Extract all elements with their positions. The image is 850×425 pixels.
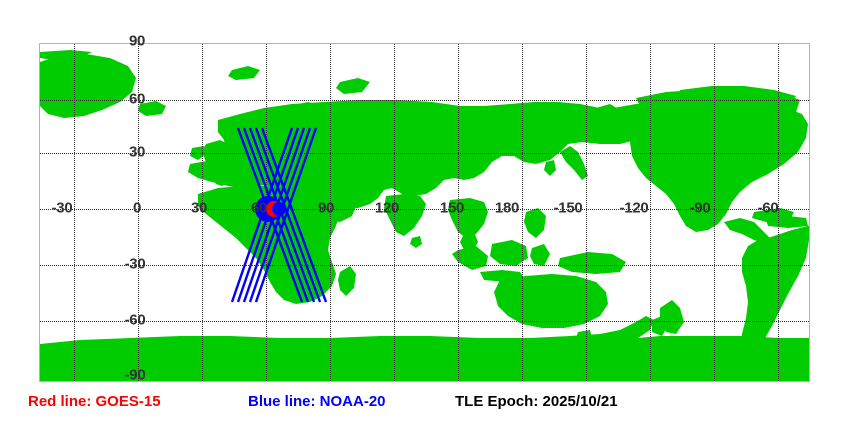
korea	[544, 160, 556, 176]
south-america	[742, 226, 809, 354]
lat-tick-30: 30	[129, 145, 145, 160]
satellite-ground-track-map: 90 60 30 -30 -60 -90 -30 0 30 60 90 120 …	[0, 0, 850, 425]
lon-tick--90: -90	[690, 201, 711, 216]
lat-tick--30: -30	[125, 257, 146, 272]
lon-tick-30: 30	[191, 201, 207, 216]
lon-tick-0: 0	[133, 201, 141, 216]
legend-red-line-goes15: Red line: GOES-15	[28, 392, 161, 412]
australia	[494, 274, 608, 328]
new-guinea	[558, 252, 626, 274]
lon-tick-90: 90	[318, 201, 334, 216]
lat-tick-90: 90	[129, 34, 145, 49]
legend-blue-line-noaa20: Blue line: NOAA-20	[248, 392, 386, 412]
lon-tick-60: 60	[251, 201, 267, 216]
svalbard	[228, 66, 260, 80]
antarctica	[40, 316, 809, 381]
sulawesi	[530, 244, 550, 266]
novaya-zemlya	[336, 78, 370, 94]
sri-lanka	[410, 236, 422, 248]
madagascar	[338, 266, 356, 296]
lon-tick-180: 180	[495, 201, 519, 216]
borneo	[490, 240, 528, 266]
lat-tick-60: 60	[129, 92, 145, 107]
lon-tick--120: -120	[620, 201, 649, 216]
lon-tick-120: 120	[375, 201, 399, 216]
lat-tick--90: -90	[125, 368, 146, 383]
lon-tick--60: -60	[758, 201, 779, 216]
sumatra	[452, 246, 488, 270]
japan	[560, 146, 588, 180]
legend: Red line: GOES-15 Blue line: NOAA-20 TLE…	[0, 392, 850, 420]
greenland	[40, 54, 136, 118]
lon-tick-150: 150	[440, 201, 464, 216]
legend-tle-epoch: TLE Epoch: 2025/10/21	[455, 392, 618, 412]
lon-tick--150: -150	[554, 201, 583, 216]
lon-tick--30: -30	[52, 201, 73, 216]
ireland	[190, 146, 206, 160]
philippines	[524, 208, 546, 238]
lat-tick--60: -60	[125, 313, 146, 328]
